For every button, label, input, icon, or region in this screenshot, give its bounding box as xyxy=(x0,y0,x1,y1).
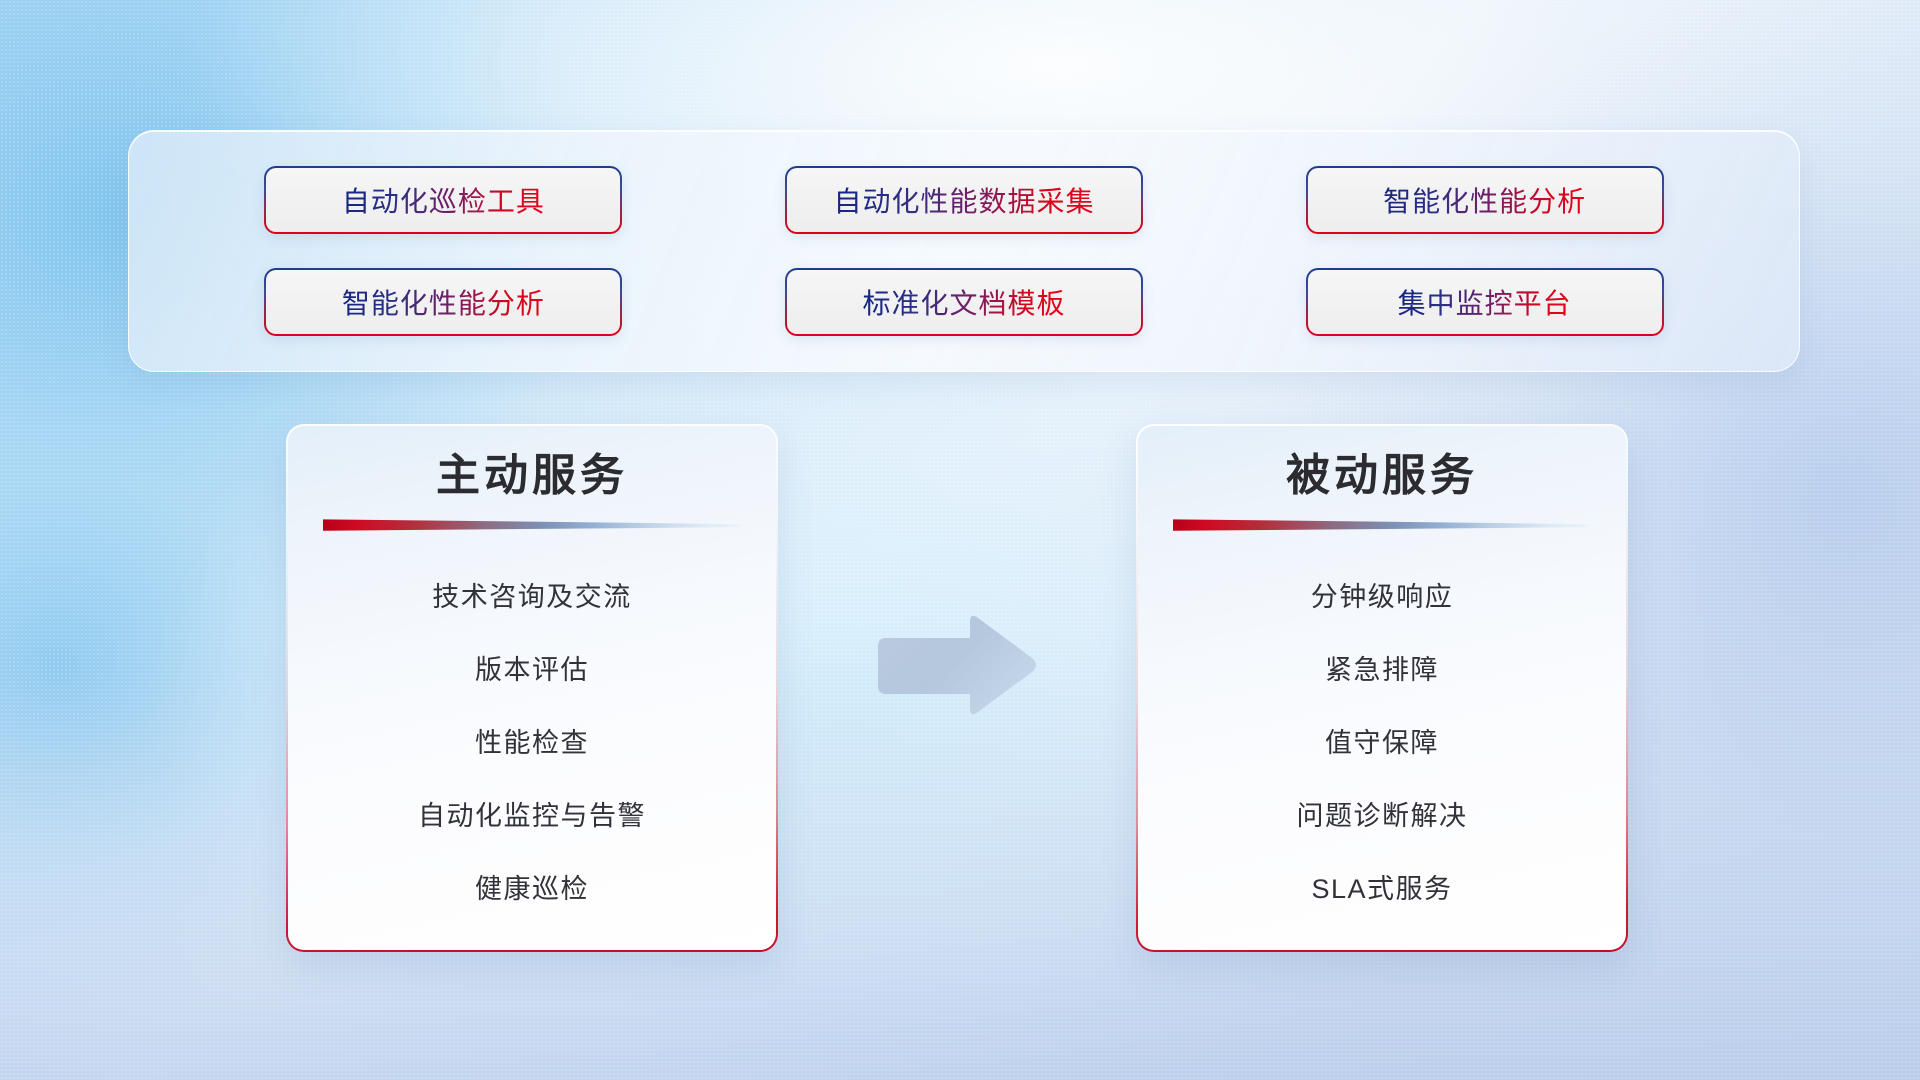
capability-pill-label: 自动化巡检工具 xyxy=(342,180,545,220)
capability-pill-inner: 标准化文档模板 xyxy=(787,270,1141,334)
capability-pill-label: 智能化性能分析 xyxy=(342,282,545,322)
capability-pill-label: 智能化性能分析 xyxy=(1383,180,1586,220)
service-card-divider xyxy=(323,517,741,531)
capability-pill-label: 集中监控平台 xyxy=(1398,282,1572,322)
service-item-list: 技术咨询及交流 版本评估 性能检查 自动化监控与告警 健康巡检 xyxy=(288,561,776,926)
capability-pill[interactable]: 标准化文档模板 xyxy=(785,268,1143,336)
capability-pill[interactable]: 自动化性能数据采集 xyxy=(785,166,1143,234)
service-list-item: 分钟级响应 xyxy=(1311,561,1454,634)
service-list-item: 版本评估 xyxy=(475,634,589,707)
capability-pill-inner: 集中监控平台 xyxy=(1308,270,1662,334)
capability-pill[interactable]: 智能化性能分析 xyxy=(1306,166,1664,234)
divider-bar xyxy=(1173,517,1591,531)
service-list-item: 自动化监控与告警 xyxy=(418,780,646,853)
capability-pill-label: 自动化性能数据采集 xyxy=(833,180,1094,220)
service-list-item: 健康巡检 xyxy=(475,853,589,926)
capability-pill-grid: 自动化巡检工具 自动化性能数据采集 智能化性能分析 智能化性能分析 xyxy=(129,131,1799,371)
arrow-right-icon-svg xyxy=(872,610,1040,722)
service-card-inner: 被动服务 分钟级响应 紧急排障 值守保障 问题诊断解决 SLA式服务 xyxy=(1138,426,1626,950)
service-list-item: SLA式服务 xyxy=(1311,853,1452,926)
slide-canvas: 自动化巡检工具 自动化性能数据采集 智能化性能分析 智能化性能分析 xyxy=(0,0,1920,1080)
service-card-divider xyxy=(1173,517,1591,531)
divider-bar xyxy=(323,517,741,531)
service-list-item: 问题诊断解决 xyxy=(1297,780,1468,853)
service-card-inner: 主动服务 技术咨询及交流 版本评估 性能检查 自动化监控与告警 健康巡检 xyxy=(288,426,776,950)
service-card-title: 被动服务 xyxy=(1286,450,1478,503)
arrow-right-icon xyxy=(872,610,1040,722)
capability-pill[interactable]: 集中监控平台 xyxy=(1306,268,1664,336)
capability-pill[interactable]: 自动化巡检工具 xyxy=(264,166,622,234)
service-list-item: 紧急排障 xyxy=(1325,634,1439,707)
capability-pill-label: 标准化文档模板 xyxy=(862,282,1065,322)
service-item-list: 分钟级响应 紧急排障 值守保障 问题诊断解决 SLA式服务 xyxy=(1138,561,1626,926)
capability-pill-inner: 智能化性能分析 xyxy=(266,270,620,334)
capability-pill-inner: 智能化性能分析 xyxy=(1308,168,1662,232)
capability-panel: 自动化巡检工具 自动化性能数据采集 智能化性能分析 智能化性能分析 xyxy=(128,130,1800,372)
service-card-title: 主动服务 xyxy=(436,450,628,503)
capability-pill-inner: 自动化性能数据采集 xyxy=(787,168,1141,232)
service-list-item: 性能检查 xyxy=(475,707,589,780)
capability-pill[interactable]: 智能化性能分析 xyxy=(264,268,622,336)
service-list-item: 技术咨询及交流 xyxy=(432,561,632,634)
service-card-passive[interactable]: 被动服务 分钟级响应 紧急排障 值守保障 问题诊断解决 SLA式服务 xyxy=(1136,424,1628,952)
service-list-item: 值守保障 xyxy=(1325,707,1439,780)
capability-pill-inner: 自动化巡检工具 xyxy=(266,168,620,232)
service-card-active[interactable]: 主动服务 技术咨询及交流 版本评估 性能检查 自动化监控与告警 健康巡检 xyxy=(286,424,778,952)
